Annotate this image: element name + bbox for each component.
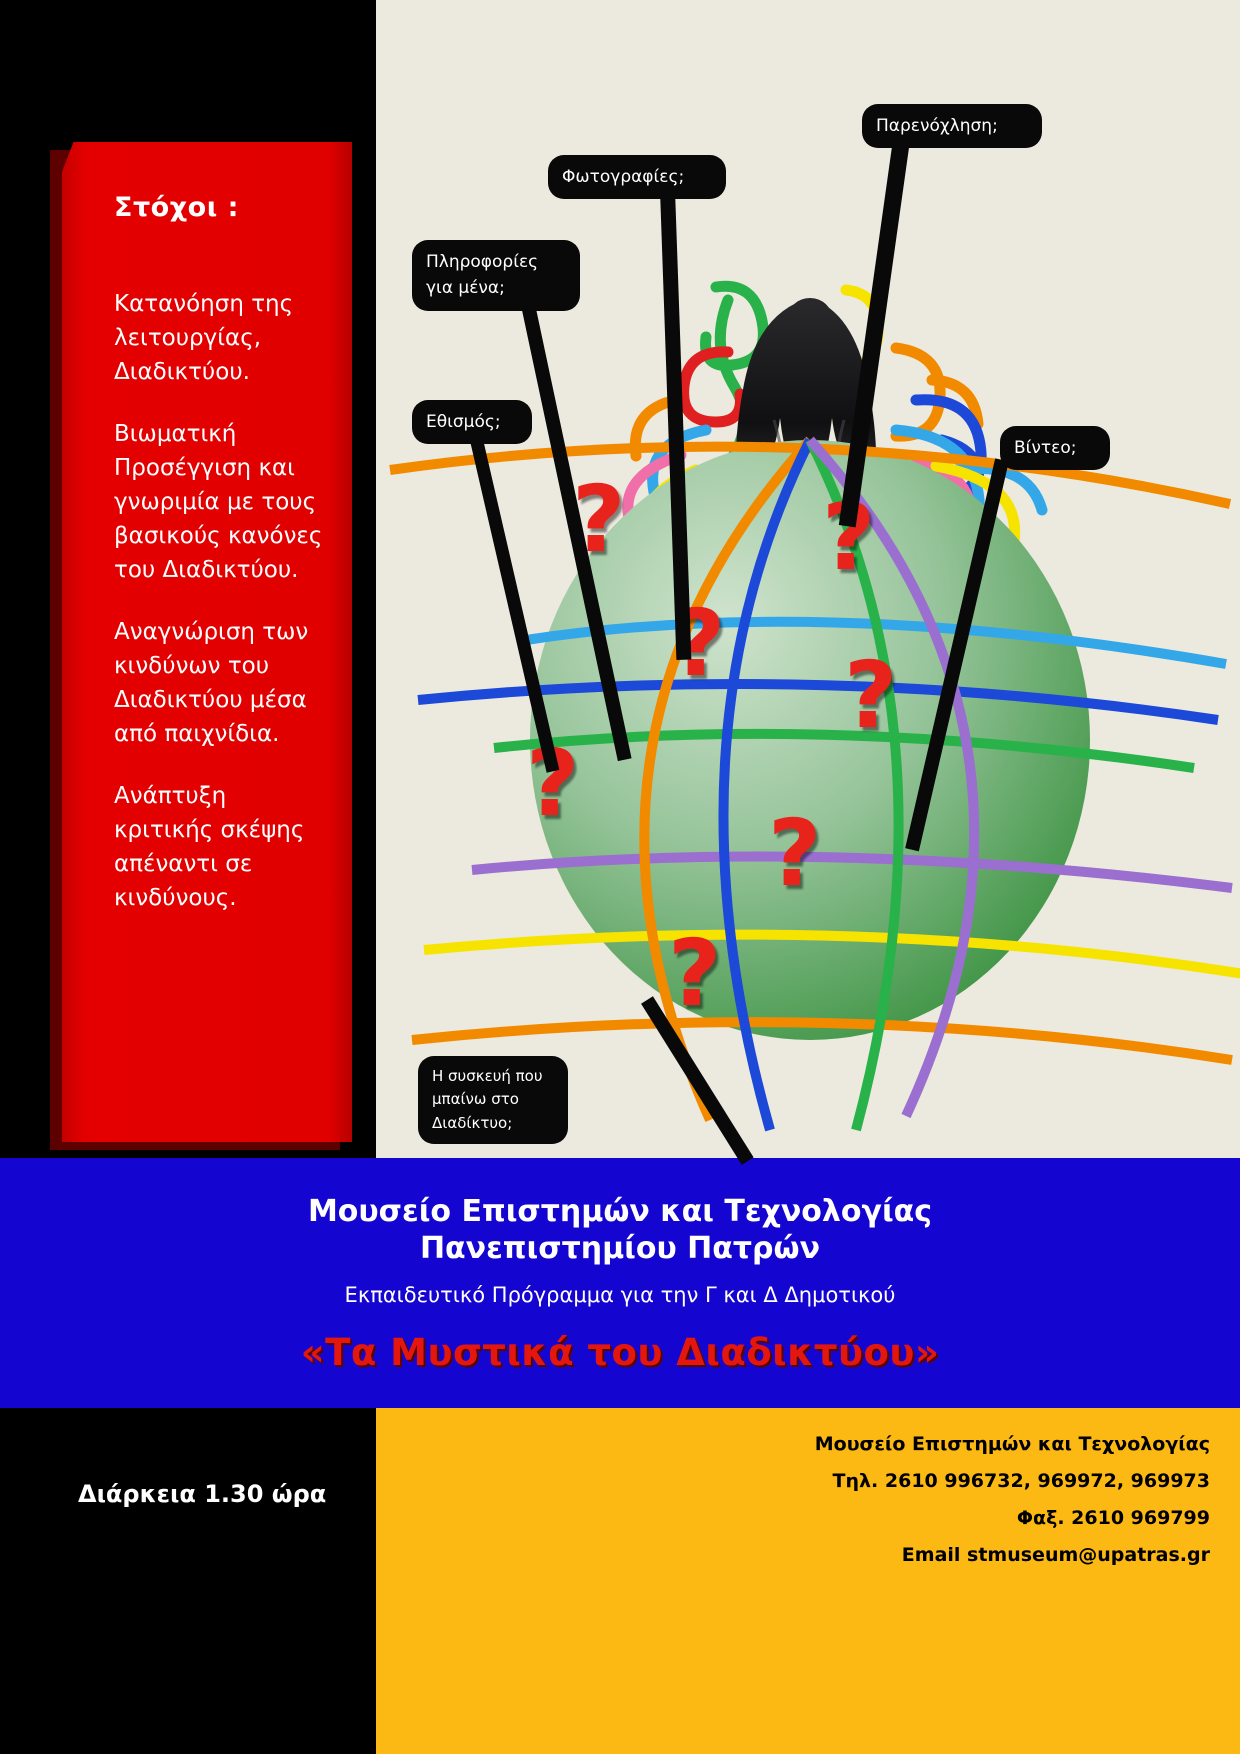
contact-block: Μουσείο Επιστημών και Τεχνολογίας Τηλ. 2… xyxy=(815,1426,1210,1574)
callout-harassment[interactable]: Παρενόχληση; xyxy=(862,104,1042,148)
callout-video[interactable]: Βίντεο; xyxy=(1000,426,1110,470)
question-mark: ? xyxy=(768,808,821,900)
contact-line: Μουσείο Επιστημών και Τεχνολογίας xyxy=(815,1426,1210,1463)
footer-blue-band: Μουσείο Επιστημών και Τεχνολογίας Πανεπι… xyxy=(0,1158,1240,1408)
question-mark: ? xyxy=(668,928,721,1020)
programme-subtitle: Εκπαιδευτικό Πρόγραμμα για την Γ και Δ Δ… xyxy=(0,1283,1240,1307)
callout-info-about-me[interactable]: Πληροφορίες για μένα; xyxy=(412,240,580,311)
objectives-box: Στόχοι : Κατανόηση της λειτουργίας, Διαδ… xyxy=(62,142,352,1142)
contact-line-email[interactable]: Email stmuseum@upatras.gr xyxy=(815,1537,1210,1574)
question-mark: ? xyxy=(844,650,897,742)
organization-line-2: Πανεπιστημίου Πατρών xyxy=(0,1231,1240,1268)
callout-device[interactable]: Η συσκευή που μπαίνω στο Διαδίκτυο; xyxy=(418,1056,568,1144)
callout-photos[interactable]: Φωτογραφίες; xyxy=(548,155,726,199)
objective-item: Βιωματική Προσέγγιση και γνωριμία με του… xyxy=(114,417,324,587)
organization-line-1: Μουσείο Επιστημών και Τεχνολογίας xyxy=(0,1194,1240,1231)
poster-title: «Τα Μυστικά του Διαδικτύου» xyxy=(0,1331,1240,1374)
contact-line: Τηλ. 2610 996732, 969972, 969973 xyxy=(815,1463,1210,1500)
contact-line: Φαξ. 2610 969799 xyxy=(815,1500,1210,1537)
objective-item: Κατανόηση της λειτουργίας, Διαδικτύου. xyxy=(114,287,324,389)
poster-root: ? ? ? ? ? ? ? Παρενόχληση; Φωτογραφίες; … xyxy=(0,0,1240,1754)
callout-addiction[interactable]: Εθισμός; xyxy=(412,400,532,444)
contact-panel: Μουσείο Επιστημών και Τεχνολογίας Τηλ. 2… xyxy=(376,1408,1240,1754)
duration-label: Διάρκεια 1.30 ώρα xyxy=(78,1480,326,1508)
objective-item: Ανάπτυξη κριτικής σκέψης απέναντι σε κιν… xyxy=(114,779,324,915)
objectives-title: Στόχοι : xyxy=(114,192,324,223)
objective-item: Αναγνώριση των κινδύνων του Διαδικτύου μ… xyxy=(114,615,324,751)
